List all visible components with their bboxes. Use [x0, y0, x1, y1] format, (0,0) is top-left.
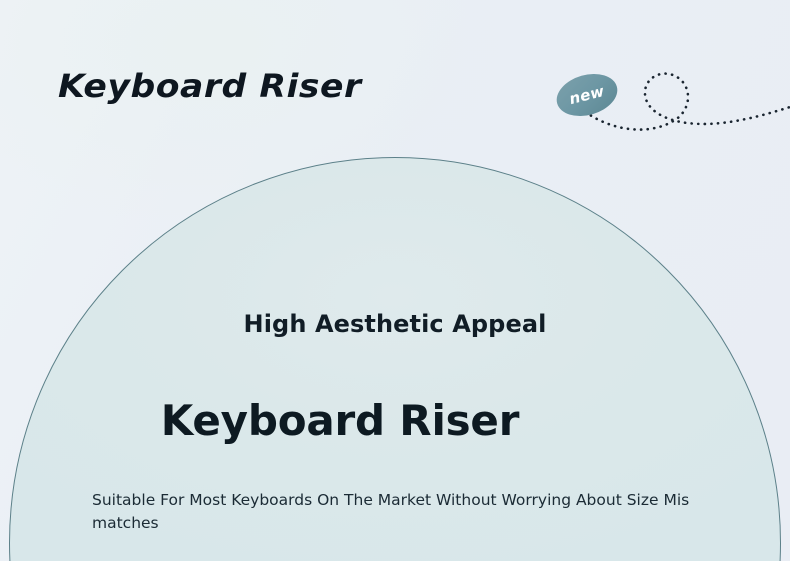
new-badge: new — [552, 67, 623, 123]
hero-title: Keyboard Riser — [0, 396, 680, 445]
hero-subtitle: Suitable For Most Keyboards On The Marke… — [92, 489, 700, 535]
new-badge-label: new — [568, 82, 607, 108]
brand-logo: Keyboard Riser — [58, 67, 362, 105]
product-banner: Keyboard Riser new High Aesthetic Appeal… — [0, 0, 790, 561]
hero-headline: High Aesthetic Appeal — [0, 310, 790, 338]
